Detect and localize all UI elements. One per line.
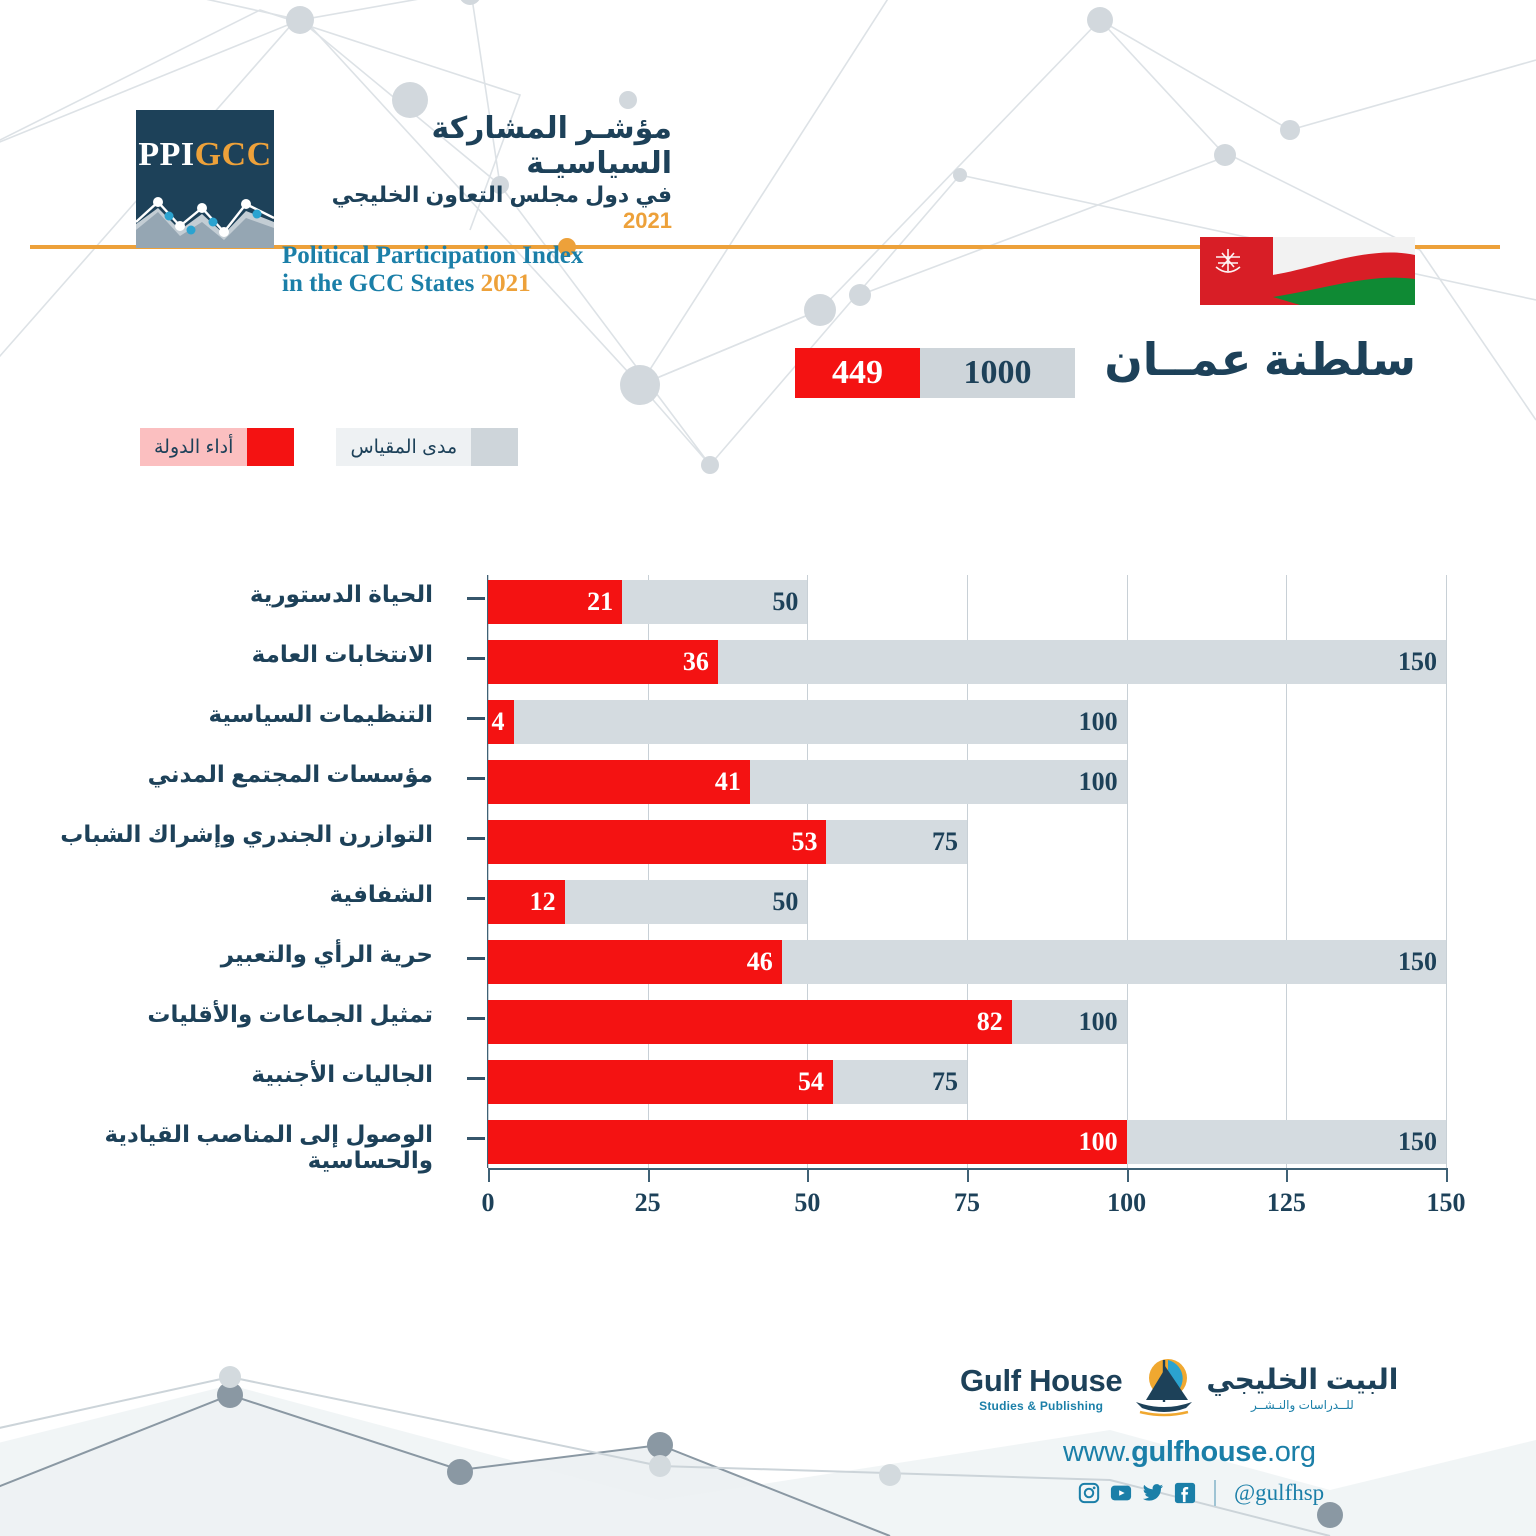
ppi-gcc-logo: PPIGCC (136, 110, 274, 248)
x-axis-tick (967, 1168, 969, 1182)
category-tick (467, 657, 485, 660)
title-english-line2-text: in the GCC States (282, 270, 474, 297)
infographic-page: PPIGCC مؤشـر المشاركة السياسيـة في دول م… (0, 0, 1536, 1536)
bar-max-label: 50 (772, 587, 798, 617)
report-title-block: مؤشـر المشاركة السياسيـة في دول مجلس الت… (282, 112, 672, 298)
category-label: الوصول إلى المناصب القيادية والحساسية (3, 1121, 433, 1174)
bar-value: 4 (488, 700, 514, 744)
bar-value: 46 (488, 940, 782, 984)
bar-value-label: 82 (977, 1007, 1003, 1037)
bar-max-label: 150 (1398, 1127, 1437, 1157)
title-english: Political Participation Index in the GCC… (282, 242, 672, 298)
x-axis-tick-label: 100 (1107, 1188, 1146, 1218)
bar-value-label: 54 (798, 1067, 824, 1097)
bar-row[interactable]: 1004 (488, 700, 1446, 744)
gulf-house-ar-sub: للــدراسات والنـشــر (1206, 1398, 1398, 1412)
bar-value-label: 12 (530, 887, 556, 917)
oman-flag-icon (1200, 237, 1415, 305)
url-prefix: www. (1063, 1436, 1131, 1468)
bar-row[interactable]: 5012 (488, 880, 1446, 924)
category-tick (467, 777, 485, 780)
bar-row[interactable]: 7554 (488, 1060, 1446, 1104)
category-axis-labels: الحياة الدستوريةالانتخابات العامةالتنظيم… (0, 570, 455, 1170)
bar-max-label: 100 (1079, 707, 1118, 737)
x-axis-tick-label: 50 (794, 1188, 820, 1218)
legend-label-scale-range: مدى المقياس (336, 428, 471, 466)
x-axis-tick-label: 75 (954, 1188, 980, 1218)
bar-value-label: 53 (791, 827, 817, 857)
title-english-line1: Political Participation Index (282, 242, 672, 270)
bar-max-label: 75 (932, 1067, 958, 1097)
bar-value-label: 41 (715, 767, 741, 797)
x-axis-tick (1127, 1168, 1129, 1182)
instagram-icon[interactable] (1078, 1482, 1100, 1504)
legend-swatch-scale-range (471, 428, 518, 466)
bar-value-label: 46 (747, 947, 773, 977)
legend-item-performance: أداء الدولة (140, 428, 294, 466)
x-axis-tick-label: 150 (1427, 1188, 1466, 1218)
chart-legend: أداء الدولة مدى المقياس (140, 428, 518, 466)
bar-max-label: 100 (1079, 1007, 1118, 1037)
facebook-icon[interactable] (1174, 1482, 1196, 1504)
x-axis-tick (1286, 1168, 1288, 1182)
gulf-house-logo: Gulf House Studies & Publishing البيت ال… (960, 1358, 1398, 1420)
x-axis-tick (807, 1168, 809, 1182)
chart-gridline (1446, 575, 1447, 1168)
x-axis-tick (1446, 1168, 1448, 1182)
title-arabic-line2: في دول مجلس التعاون الخليجي 2021 (282, 182, 672, 235)
social-links: @gulfhsp (1078, 1480, 1324, 1506)
bar-value-label: 36 (683, 647, 709, 677)
category-tick (467, 717, 485, 720)
overall-score-badge: 449 1000 (795, 348, 1075, 398)
x-axis-tick-label: 125 (1267, 1188, 1306, 1218)
bar-max-label: 150 (1398, 947, 1437, 977)
category-label: الحياة الدستورية (3, 581, 433, 607)
bar-row[interactable]: 15046 (488, 940, 1446, 984)
bar-value: 82 (488, 1000, 1012, 1044)
url-suffix: .org (1267, 1436, 1316, 1468)
category-tick (467, 1077, 485, 1080)
x-axis-tick-label: 25 (635, 1188, 661, 1218)
category-label: مؤسسات المجتمع المدني (3, 761, 433, 787)
bar-row[interactable]: 10041 (488, 760, 1446, 804)
x-axis-tick (488, 1168, 490, 1182)
legend-swatch-performance (247, 428, 294, 466)
category-label: الشفافية (3, 881, 433, 907)
gulf-house-english-name: Gulf House Studies & Publishing (960, 1365, 1122, 1413)
overall-score-max: 1000 (920, 348, 1075, 398)
x-axis-tick-label: 0 (482, 1188, 495, 1218)
bar-max-label: 75 (932, 827, 958, 857)
bar-row[interactable]: 7553 (488, 820, 1446, 864)
bar-value: 54 (488, 1060, 833, 1104)
x-axis-tick (648, 1168, 650, 1182)
bar-value: 12 (488, 880, 565, 924)
x-axis: 0255075100125150 (488, 1168, 1446, 1228)
bar-value-label: 4 (492, 707, 505, 737)
bar-max-label: 50 (772, 887, 798, 917)
social-divider (1214, 1480, 1216, 1506)
category-tick (467, 957, 485, 960)
bar-scale-range: 100 (488, 700, 1127, 744)
overall-score-value: 449 (795, 348, 920, 398)
bar-max-label: 150 (1398, 647, 1437, 677)
youtube-icon[interactable] (1110, 1482, 1132, 1504)
gulf-house-arabic-name: البيت الخليجي للــدراسات والنـشــر (1206, 1366, 1398, 1412)
url-main: gulfhouse (1131, 1436, 1267, 1468)
title-arabic-line1: مؤشـر المشاركة السياسيـة (282, 112, 672, 181)
dhow-boat-icon (1128, 1358, 1200, 1420)
twitter-icon[interactable] (1142, 1482, 1164, 1504)
logo-gcc-text: GCC (195, 136, 272, 173)
title-arabic-year: 2021 (623, 208, 672, 233)
category-tick (467, 897, 485, 900)
gulf-house-en-sub: Studies & Publishing (960, 1399, 1122, 1413)
bar-max-label: 100 (1079, 767, 1118, 797)
footer: Gulf House Studies & Publishing البيت ال… (0, 1340, 1536, 1536)
category-tick (467, 597, 485, 600)
bar-value-label: 21 (587, 587, 613, 617)
bar-row[interactable]: 10082 (488, 1000, 1446, 1044)
title-arabic-line2-text: في دول مجلس التعاون الخليجي (332, 182, 672, 207)
bar-value: 100 (488, 1120, 1127, 1164)
bar-value: 21 (488, 580, 622, 624)
website-url[interactable]: www.gulfhouse.org (1063, 1436, 1316, 1469)
category-label: التنظيمات السياسية (3, 701, 433, 727)
legend-label-performance: أداء الدولة (140, 428, 247, 466)
category-label: الجاليات الأجنبية (3, 1061, 433, 1087)
bar-value: 36 (488, 640, 718, 684)
logo-ppi-text: PPI (138, 136, 194, 173)
category-label: حرية الرأي والتعبير (3, 941, 433, 967)
category-label: تمثيل الجماعات والأقليات (3, 1001, 433, 1027)
category-tick (467, 837, 485, 840)
category-label: التوازرن الجندري وإشراك الشباب (3, 821, 433, 847)
bar-row[interactable]: 15036 (488, 640, 1446, 684)
category-label: الانتخابات العامة (3, 641, 433, 667)
category-tick (467, 1137, 485, 1140)
country-name: سلطنة عمــان (1104, 333, 1416, 386)
chart-plot-area: 5021150361004100417553501215046100827554… (488, 575, 1446, 1168)
category-tick (467, 1017, 485, 1020)
bar-value: 53 (488, 820, 826, 864)
legend-item-scale-range: مدى المقياس (336, 428, 518, 466)
bar-value: 41 (488, 760, 750, 804)
bar-value-label: 100 (1079, 1127, 1118, 1157)
title-english-line2: in the GCC States 2021 (282, 270, 672, 298)
title-english-year: 2021 (481, 270, 531, 297)
bar-chart: الحياة الدستوريةالانتخابات العامةالتنظيم… (0, 570, 1536, 1230)
bar-row[interactable]: 5021 (488, 580, 1446, 624)
gulf-house-en-main: Gulf House (960, 1365, 1122, 1396)
social-handle[interactable]: @gulfhsp (1234, 1480, 1324, 1506)
bar-row[interactable]: 150100 (488, 1120, 1446, 1164)
logo-line-chart-graphic (136, 178, 274, 248)
gulf-house-ar-main: البيت الخليجي (1206, 1366, 1398, 1394)
